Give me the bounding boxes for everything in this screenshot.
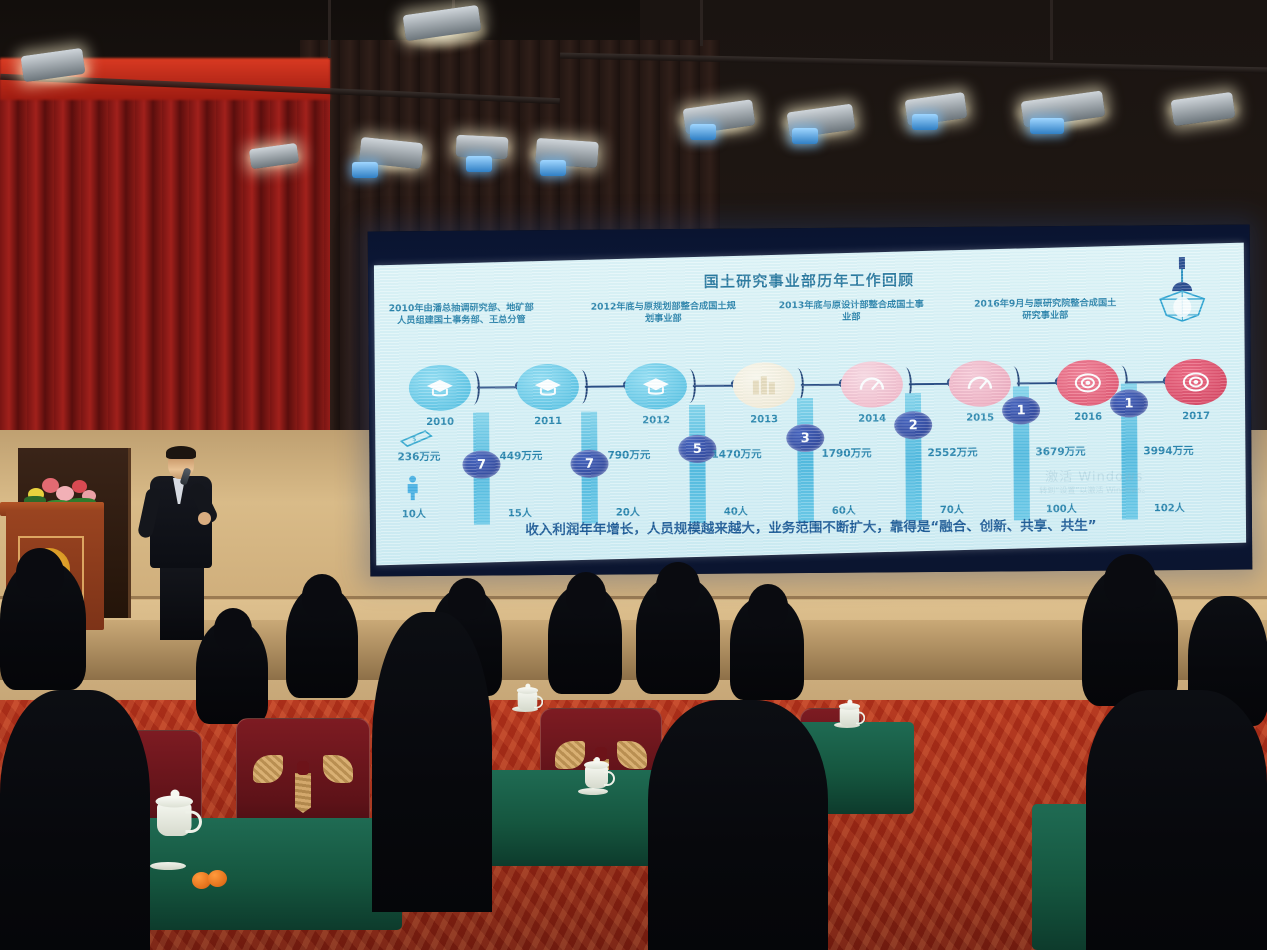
banknote-icon: $ (399, 429, 433, 447)
revenue-label-2014: 1790万元 (821, 446, 871, 461)
badge-growth-1: 7 (462, 450, 500, 478)
blue-led-panel (540, 160, 566, 176)
audience-head (1104, 554, 1156, 608)
chair-bow (253, 755, 353, 785)
revenue-label-2012: 790万元 (607, 447, 650, 462)
timeline-node-2017[interactable] (1165, 359, 1227, 405)
blue-led-panel (466, 156, 492, 172)
orange-fruit (208, 870, 227, 887)
graduation-cap-icon (533, 376, 563, 398)
headcount-label-2014: 60人 (832, 502, 856, 517)
stage-curtain-red (0, 60, 330, 480)
audience-head (748, 584, 788, 628)
gauge-icon (965, 373, 995, 395)
graduation-cap-icon (641, 375, 671, 397)
revenue-label-2011: 449万元 (499, 448, 542, 463)
blue-led-panel (352, 162, 378, 178)
person-icon (404, 475, 422, 501)
badge-growth-7: 1 (1110, 389, 1148, 417)
saucer (150, 862, 186, 870)
teacup (516, 685, 540, 711)
timeline-node-2010[interactable] (409, 365, 471, 411)
foreground-audience (372, 612, 492, 912)
presenter-hair (166, 446, 196, 459)
foreground-audience (0, 690, 150, 950)
headcount-label-2010: 10人 (402, 505, 426, 520)
audience-head (656, 562, 700, 610)
blue-led-panel (912, 114, 938, 130)
badge-growth-5: 2 (894, 411, 932, 439)
target-icon (1181, 371, 1211, 393)
revenue-label-2016: 3679万元 (1035, 444, 1085, 459)
audience-head (566, 572, 606, 616)
blue-led-panel (1030, 118, 1064, 134)
timeline-note-2013: 2013年底与原设计部整合成国土事业部 (776, 299, 926, 324)
presenter-legs (160, 564, 204, 640)
building-icon (749, 374, 779, 396)
teacup (154, 791, 196, 836)
audience-head (302, 574, 342, 618)
revenue-label-2015: 2552万元 (927, 445, 977, 460)
audience-head (448, 578, 486, 620)
revenue-label-2010: 236万元 (397, 449, 440, 464)
svg-text:$: $ (412, 435, 417, 443)
headcount-label-2012: 20人 (616, 503, 640, 518)
badge-growth-6: 1 (1002, 396, 1040, 424)
presenter-hand (198, 512, 211, 525)
foreground-audience (1086, 690, 1267, 950)
timeline-node-2015[interactable] (949, 360, 1011, 406)
led-screen: 国土研究事业部历年工作回顾 (368, 225, 1253, 577)
windows-activation-watermark: 激活 Windows 转到“设置”以激活 Windows。 (1039, 465, 1150, 496)
timeline-note-2016: 2016年9月与原研究院整合成国土研究事业部 (970, 298, 1120, 323)
headcount-label-2011: 15人 (508, 504, 532, 519)
saucer (578, 788, 608, 795)
blue-led-panel (792, 128, 818, 144)
timeline-node-2013[interactable] (733, 362, 795, 408)
headcount-label-2013: 40人 (724, 502, 748, 517)
timeline-node-2014[interactable] (841, 361, 903, 407)
headcount-label-2016: 100人 (1046, 500, 1077, 515)
audience-head (214, 608, 252, 650)
slide-title: 国土研究事业部历年工作回顾 (374, 267, 1244, 295)
timeline-node-2012[interactable] (625, 363, 687, 409)
headcount-label-2015: 70人 (940, 501, 964, 516)
gauge-icon (857, 373, 887, 395)
watermark-line2: 转到“设置”以激活 Windows。 (1039, 484, 1150, 496)
badge-growth-2: 7 (570, 450, 608, 478)
bar-2013 (689, 405, 706, 523)
revenue-label-2017: 3994万元 (1143, 443, 1193, 458)
foreground-audience (648, 700, 828, 950)
bar-2014 (797, 398, 814, 522)
timeline-node-2011[interactable] (517, 364, 579, 410)
light-hanger (1050, 0, 1053, 60)
revenue-label-2013: 1470万元 (711, 446, 761, 461)
timeline-note-2012: 2012年底与原规划部整合成国土规划事业部 (588, 301, 738, 326)
headcount-label-2017: 102人 (1154, 499, 1185, 514)
badge-growth-4: 3 (786, 424, 824, 452)
watermark-line1: 激活 Windows (1039, 465, 1150, 485)
teacup (838, 701, 862, 727)
light-hanger (700, 0, 703, 46)
graduation-cap-icon (425, 377, 455, 399)
target-icon (1073, 372, 1103, 394)
timeline-note-2010: 2010年由潘总抽调研究部、地矿部人员组建国土事务部、王总分管 (386, 302, 536, 327)
presenter (140, 448, 224, 638)
teacup (583, 758, 611, 788)
presentation-slide: 国土研究事业部历年工作回顾 (374, 243, 1246, 566)
blue-led-panel (690, 124, 716, 140)
conference-hall-photo: 国土研究事业部历年工作回顾 (0, 0, 1267, 950)
light-hanger (328, 0, 331, 58)
audience-head (16, 548, 64, 598)
